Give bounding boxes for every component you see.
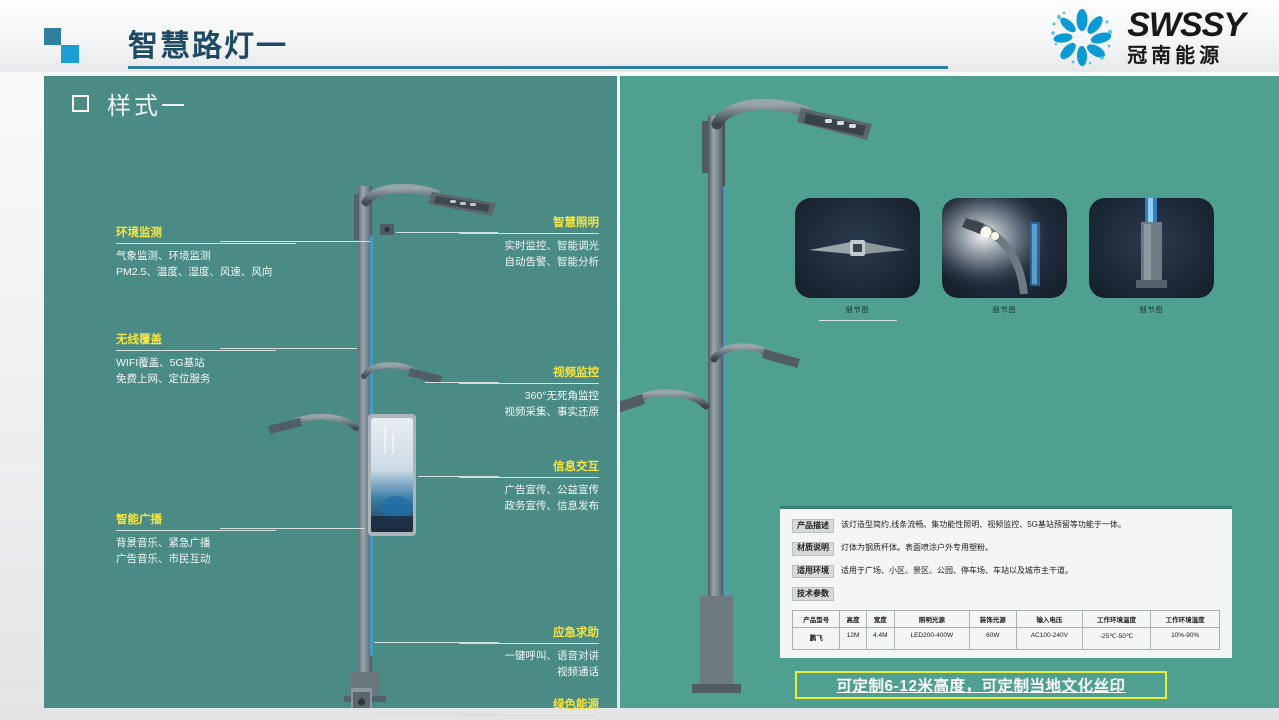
- callout-left-2: 智能广播 背景音乐、紧急广播 广告音乐、市民互动: [116, 511, 276, 568]
- callout-divider: [116, 530, 276, 531]
- spec-row-material: 材质说明 灯体为钢质杆体。表面喷涂户外专用塑粉。: [792, 542, 1220, 556]
- header-decor-squares: [44, 28, 84, 62]
- callout-heading: 视频监控: [459, 364, 599, 381]
- spec-row-description: 产品描述 该灯造型简约,线条流畅。集功能性照明、视频监控、5G基站预留等功能于一…: [792, 519, 1220, 533]
- callout-line: 360°无死角监控: [459, 388, 599, 404]
- cell-input-voltage: AC100-240V: [1016, 628, 1082, 650]
- thumbnail-caption: 细节图: [795, 305, 920, 315]
- callout-heading: 信息交互: [459, 458, 599, 475]
- callout-divider: [459, 643, 599, 644]
- callout-heading: 智能广播: [116, 511, 276, 528]
- spec-value: 该灯造型简约,线条流畅。集功能性照明、视频监控、5G基站预留等功能于一体。: [841, 519, 1126, 531]
- water-droplet-flower-icon: [1047, 8, 1117, 66]
- callout-line: WIFI覆盖、5G基站: [116, 355, 276, 371]
- page-title: 智慧路灯一: [128, 21, 288, 65]
- cell-work-humidity: 10%-90%: [1151, 628, 1220, 650]
- header-underline: [128, 66, 948, 69]
- callout-right-4: 绿色能源 汽车充电 手机充电: [459, 696, 599, 720]
- customization-banner: 可定制6-12米高度，可定制当地文化丝印: [795, 671, 1167, 699]
- callout-heading: 无线覆盖: [116, 331, 276, 348]
- callout-divider: [459, 383, 599, 384]
- callout-line: 政务宣传、信息发布: [459, 498, 599, 514]
- cell-decor-source: 60W: [969, 628, 1016, 650]
- cell-height: 12M: [840, 628, 866, 650]
- tech-params-table: 产品型号 高度 宽度 照明光源 装饰光源 输入电压 工作环境温度 工作环境湿度 …: [792, 610, 1220, 650]
- cell-width: 4.4M: [866, 628, 895, 650]
- callout-line: PM2.5、温度、湿度、风速、风向: [116, 264, 296, 280]
- cell-model: 鹏飞: [793, 628, 840, 650]
- spec-value: 灯体为钢质杆体。表面喷涂户外专用塑粉。: [841, 542, 993, 554]
- callout-heading: 绿色能源: [459, 696, 599, 713]
- spec-card: 产品描述 该灯造型简约,线条流畅。集功能性照明、视频监控、5G基站预留等功能于一…: [780, 506, 1232, 658]
- spec-tag: 技术参数: [792, 587, 834, 601]
- callout-divider: [459, 715, 599, 716]
- thumbnail-caption: 细节图: [942, 305, 1067, 315]
- col-work-humidity: 工作环境湿度: [1151, 611, 1220, 628]
- spec-tag: 材质说明: [792, 542, 834, 556]
- spec-row-params: 技术参数: [792, 587, 1220, 601]
- thumbnail-item[interactable]: 细节图: [795, 198, 920, 321]
- callout-line: 实时监控、智能调光: [459, 238, 599, 254]
- callout-line: 背景音乐、紧急广播: [116, 535, 276, 551]
- callout-right-2: 信息交互 广告宣传、公益宣传 政务宣传、信息发布: [459, 458, 599, 515]
- callout-line: 视频通话: [459, 664, 599, 680]
- col-work-temp: 工作环境温度: [1082, 611, 1151, 628]
- callout-left-0: 环境监测 气象监测、环境监测 PM2.5、温度、湿度、风速、风向: [116, 224, 296, 281]
- callout-left-1: 无线覆盖 WIFI覆盖、5G基站 免费上网、定位服务: [116, 331, 276, 388]
- thumbnail-item[interactable]: 细节图: [942, 198, 1067, 321]
- page-header: 智慧路灯一: [0, 0, 1279, 72]
- callout-divider: [116, 350, 276, 351]
- decor-square-blue-icon: [61, 45, 79, 63]
- callout-divider: [459, 233, 599, 234]
- col-model: 产品型号: [793, 611, 840, 628]
- spec-tag: 适用环境: [792, 565, 834, 579]
- spec-value: 适用于广场、小区、景区、公园、停车场、车站以及城市主干道。: [841, 565, 1073, 577]
- emergency-call-module: [351, 688, 372, 708]
- col-height: 高度: [840, 611, 866, 628]
- table-header-row: 产品型号 高度 宽度 照明光源 装饰光源 输入电压 工作环境温度 工作环境湿度: [793, 611, 1220, 628]
- cell-lighting-source: LED200-400W: [895, 628, 970, 650]
- pole-base-detail-photo[interactable]: [1089, 198, 1214, 298]
- thumbnail-item[interactable]: 细节图: [1089, 198, 1214, 321]
- decor-square-dark-icon: [44, 28, 61, 45]
- col-decor-source: 装饰光源: [969, 611, 1016, 628]
- callout-right-3: 应急求助 一键呼叫、语音对讲 视频通话: [459, 624, 599, 681]
- spec-tag: 产品描述: [792, 519, 834, 533]
- diagram-panel: 样式一: [44, 76, 617, 708]
- callout-line: 视频采集、事实还原: [459, 404, 599, 420]
- callout-line: 自动告警、智能分析: [459, 254, 599, 270]
- lamp-head-lit-detail-photo[interactable]: [942, 198, 1067, 298]
- callout-line: 一键呼叫、语音对讲: [459, 648, 599, 664]
- callout-line: 免费上网、定位服务: [116, 371, 276, 387]
- callout-line: 广告宣传、公益宣传: [459, 482, 599, 498]
- thumbnail-caption: 细节图: [1089, 305, 1214, 315]
- lamp-arm-detail-photo[interactable]: [795, 198, 920, 298]
- slide-root: 智慧路灯一: [0, 0, 1279, 720]
- col-width: 宽度: [866, 611, 895, 628]
- cell-work-temp: -25℃-50℃: [1082, 628, 1151, 650]
- detail-thumbnail-row: 细节图: [795, 198, 1215, 321]
- col-lighting-source: 照明光源: [895, 611, 970, 628]
- brand-logo: SWSSY 冠南能源: [1047, 6, 1245, 68]
- spec-row-environment: 适用环境 适用于广场、小区、景区、公园、停车场、车站以及城市主干道。: [792, 565, 1220, 579]
- callout-divider: [459, 477, 599, 478]
- col-input-voltage: 输入电压: [1016, 611, 1082, 628]
- callout-heading: 智慧照明: [459, 214, 599, 231]
- callout-divider: [116, 243, 296, 244]
- callout-heading: 环境监测: [116, 224, 296, 241]
- callout-line: 广告音乐、市民互动: [116, 551, 276, 567]
- brand-name-en: SWSSY: [1127, 8, 1245, 42]
- thumbnail-underline: [819, 320, 897, 321]
- brand-name-cn: 冠南能源: [1127, 46, 1223, 66]
- callout-heading: 应急求助: [459, 624, 599, 641]
- customization-banner-text: 可定制6-12米高度，可定制当地文化丝印: [836, 674, 1125, 696]
- product-photo-panel: 细节图: [620, 76, 1279, 708]
- callout-line: 气象监测、环境监测: [116, 248, 296, 264]
- callout-right-0: 智慧照明 实时监控、智能调光 自动告警、智能分析: [459, 214, 599, 271]
- table-row: 鹏飞 12M 4.4M LED200-400W 60W AC100-240V -…: [793, 628, 1220, 650]
- callout-right-1: 视频监控 360°无死角监控 视频采集、事实还原: [459, 364, 599, 421]
